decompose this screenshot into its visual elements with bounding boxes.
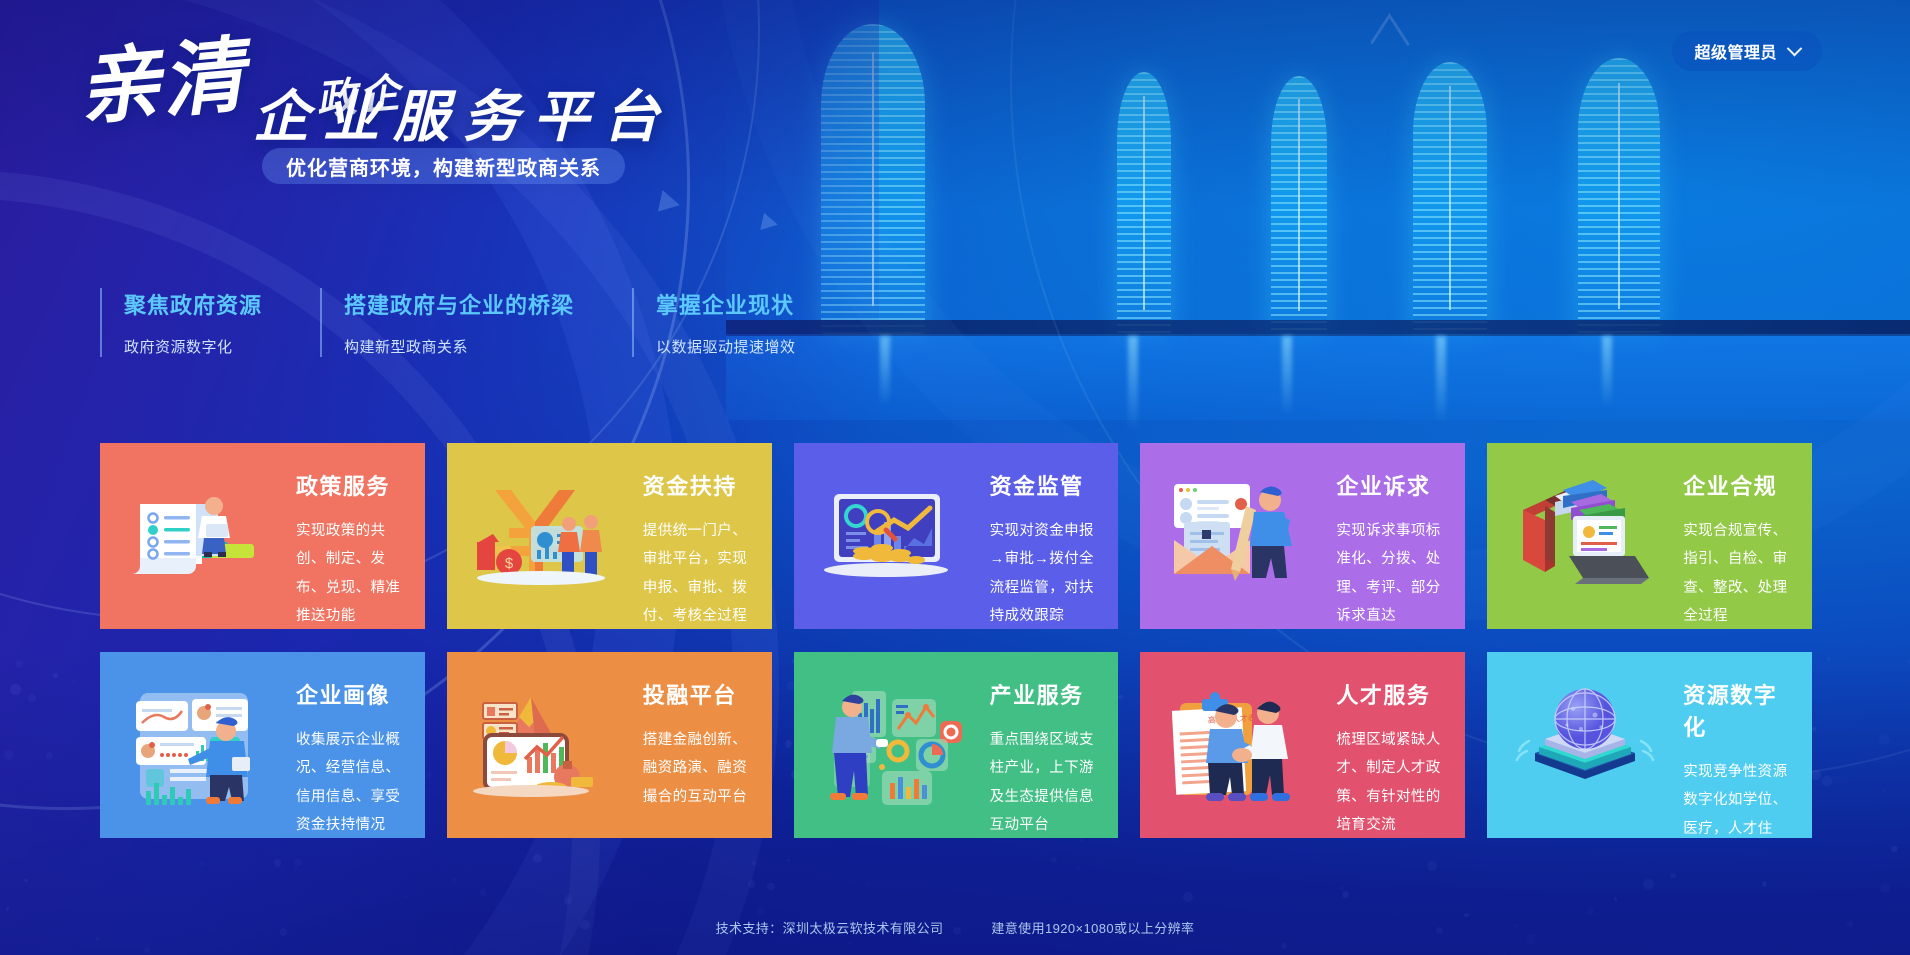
page-footer: 技术支持：深圳太极云软技术有限公司 建意使用1920×1080或以上分辨率 [0,918,1910,937]
service-card-text: 人才服务 梳理区域紧缺人才、制定人才政策、有针对性的培育交流 [1336,678,1451,838]
service-card-title: 人才服务 [1336,678,1451,710]
service-card-desc: 实现诉求事项标准化、分拨、处理、考评、部分诉求直达 [1336,517,1451,629]
highlight-item-2: 掌握企业现状 以数据驱动提速增效 [632,288,796,357]
service-card-3[interactable]: 企业诉求 实现诉求事项标准化、分拨、处理、考评、部分诉求直达 [1140,443,1465,629]
service-card-title: 企业诉求 [1336,469,1451,501]
highlight-desc: 政府资源数字化 [124,336,262,357]
highlight-item-0: 聚焦政府资源 政府资源数字化 [100,288,262,357]
service-card-text: 企业合规 实现合规宣传、指引、自检、审查、整改、处理全过程 [1683,469,1798,629]
checklist-document-icon [122,470,274,602]
globe-layers-icon [1509,679,1661,811]
service-card-4[interactable]: 企业合规 实现合规宣传、指引、自检、审查、整改、处理全过程 [1487,443,1812,629]
service-card-title: 企业画像 [296,678,411,710]
service-card-text: 企业诉求 实现诉求事项标准化、分拨、处理、考评、部分诉求直达 [1336,469,1451,629]
books-laptop-icon [1509,470,1661,602]
yuan-currency-icon: $ [469,470,621,602]
service-card-desc: 收集展示企业概况、经营信息、信用信息、享受资金扶持情况 [296,726,411,838]
service-card-text: 产业服务 重点围绕区域支柱产业，上下游及生态提供信息互动平台 [990,678,1105,838]
handshake-clipboard-icon: 高等级人才表 [1162,679,1314,811]
service-card-title: 资源数字化 [1683,678,1798,742]
service-card-text: 资金监管 实现对资金申报→审批→拨付全流程监管，对扶持成效跟踪 [990,469,1105,629]
highlight-title: 搭建政府与企业的桥梁 [344,288,574,320]
service-card-text: 企业画像 收集展示企业概况、经营信息、信用信息、享受资金扶持情况 [296,678,411,838]
footer-resolution-text: 建意使用1920×1080或以上分辨率 [991,918,1194,937]
service-card-grid: 政策服务 实现政策的共创、制定、发布、兑现、精准推送功能 $ [100,443,1812,838]
dashboard-profile-icon [122,679,274,811]
highlight-desc: 构建新型政商关系 [344,336,574,357]
service-card-text: 投融平台 搭建金融创新、融资路演、融资撮合的互动平台 [643,678,758,811]
service-card-title: 产业服务 [990,678,1105,710]
service-card-desc: 实现合规宣传、指引、自检、审查、整改、处理全过程 [1683,517,1798,629]
highlight-title: 掌握企业现状 [656,288,796,320]
service-card-text: 政策服务 实现政策的共创、制定、发布、兑现、精准推送功能 [296,469,411,629]
service-card-desc: 梳理区域紧缺人才、制定人才政策、有针对性的培育交流 [1336,726,1451,838]
service-card-title: 资金监管 [990,469,1105,501]
user-role-dropdown[interactable]: 超级管理员 [1672,31,1822,71]
industry-charts-icon [816,679,968,811]
service-card-0[interactable]: 政策服务 实现政策的共创、制定、发布、兑现、精准推送功能 [100,443,425,629]
envelope-pen-icon [1162,470,1314,602]
service-card-title: 投融平台 [643,678,758,710]
service-card-desc: 提供统一门户、审批平台，实现申报、审批、拨付、考核全过程 [643,517,758,629]
service-card-9[interactable]: 资源数字化 实现竞争性资源数字化如学位、医疗，人才住房，专项资金 [1487,652,1812,838]
user-role-label: 超级管理员 [1694,39,1777,63]
service-card-8[interactable]: 高等级人才表 人才服务 梳理区域紧缺人才、制定人才政策、有针对 [1140,652,1465,838]
service-card-6[interactable]: 投融平台 搭建金融创新、融资路演、融资撮合的互动平台 [447,652,772,838]
service-card-title: 企业合规 [1683,469,1798,501]
footer-support-text: 技术支持：深圳太极云软技术有限公司 [716,918,944,937]
highlight-desc: 以数据驱动提速增效 [656,336,796,357]
service-card-5[interactable]: 企业画像 收集展示企业概况、经营信息、信用信息、享受资金扶持情况 [100,652,425,838]
laptop-analytics-icon [816,470,968,602]
service-card-title: 资金扶持 [643,469,758,501]
service-card-desc: 实现竞争性资源数字化如学位、医疗，人才住房，专项资金 [1683,758,1798,838]
page-title: 企业服务平台 [253,72,673,153]
brand-calligraphy-main: 亲清 [75,37,249,129]
svg-text:$: $ [505,555,514,572]
chevron-down-icon [1787,40,1803,56]
highlight-title: 聚焦政府资源 [124,288,262,320]
service-card-7[interactable]: 产业服务 重点围绕区域支柱产业，上下游及生态提供信息互动平台 [794,652,1119,838]
highlight-item-1: 搭建政府与企业的桥梁 构建新型政商关系 [320,288,574,357]
service-card-text: 资源数字化 实现竞争性资源数字化如学位、医疗，人才住房，专项资金 [1683,678,1798,838]
chart-mountain-icon [469,679,621,811]
service-card-desc: 重点围绕区域支柱产业，上下游及生态提供信息互动平台 [990,726,1105,838]
service-card-text: 资金扶持 提供统一门户、审批平台，实现申报、审批、拨付、考核全过程 [643,469,758,629]
service-card-desc: 实现政策的共创、制定、发布、兑现、精准推送功能 [296,517,411,629]
service-card-desc: 搭建金融创新、融资路演、融资撮合的互动平台 [643,726,758,811]
slogan-banner: 优化营商环境，构建新型政商关系 [262,148,625,184]
service-card-title: 政策服务 [296,469,411,501]
service-card-1[interactable]: $ 资金扶持 提供统一门户、审批平台，实现申报、审批、拨付、考核全过程 [447,443,772,629]
highlights-row: 聚焦政府资源 政府资源数字化 搭建政府与企业的桥梁 构建新型政商关系 掌握企业现… [100,288,854,357]
service-card-desc: 实现对资金申报→审批→拨付全流程监管，对扶持成效跟踪 [990,517,1105,629]
service-card-2[interactable]: 资金监管 实现对资金申报→审批→拨付全流程监管，对扶持成效跟踪 [794,443,1119,629]
